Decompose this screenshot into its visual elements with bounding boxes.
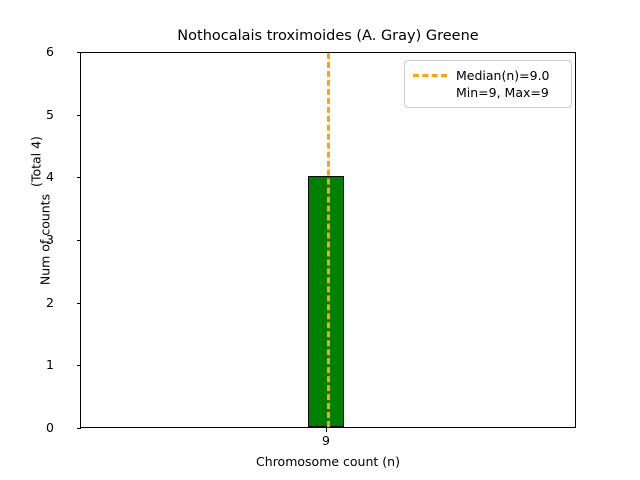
legend-entry-minmax: Min=9, Max=9 — [413, 84, 564, 101]
chart-legend: Median(n)=9.0 Min=9, Max=9 — [404, 60, 572, 108]
y-axis-label-total: (Total 4) — [30, 82, 43, 242]
legend-entry-median: Median(n)=9.0 — [413, 67, 564, 84]
plot-inner — [81, 53, 575, 427]
y-tick-label-1: 1 — [14, 359, 54, 372]
bar-9[interactable] — [308, 176, 344, 427]
legend-label-median: Median(n)=9.0 — [456, 68, 550, 83]
dashed-line-icon — [413, 74, 447, 77]
y-tick-mark-0 — [77, 428, 81, 429]
y-tick-label-0: 0 — [14, 422, 54, 435]
blank-swatch-icon — [413, 91, 447, 94]
x-tick-label-9: 9 — [296, 434, 356, 447]
y-tick-label-6: 6 — [14, 46, 54, 59]
legend-label-minmax: Min=9, Max=9 — [456, 85, 549, 100]
chart-figure: Nothocalais troximoides (A. Gray) Greene… — [0, 0, 640, 480]
x-tick-mark-9 — [326, 428, 327, 432]
x-axis-label: Chromosome count (n) — [80, 455, 576, 469]
median-line — [327, 53, 330, 427]
plot-area — [80, 52, 576, 428]
chart-title: Nothocalais troximoides (A. Gray) Greene — [80, 27, 576, 45]
